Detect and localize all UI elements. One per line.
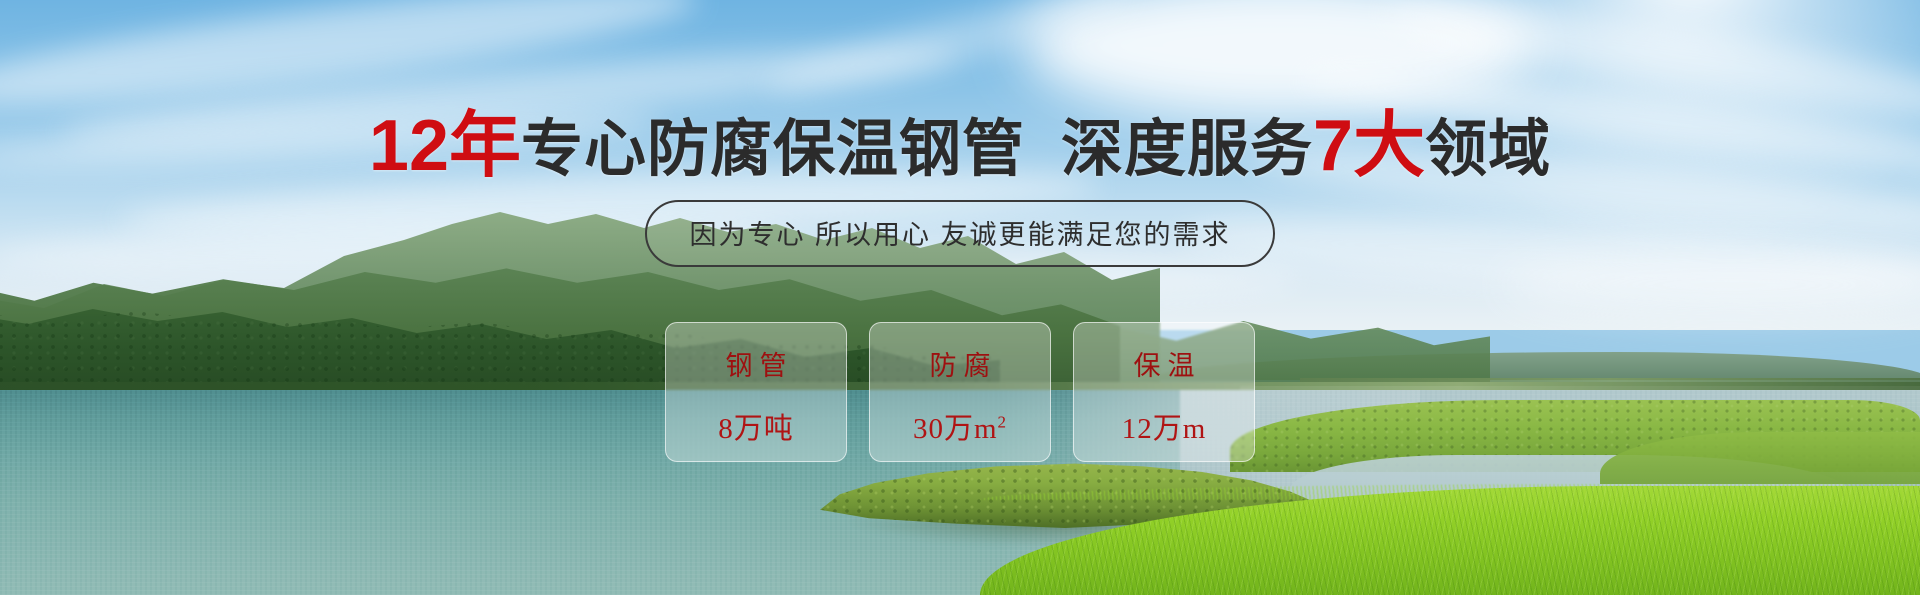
headline-seven: 7大 bbox=[1313, 106, 1425, 186]
stat-card-value-text: 12万m bbox=[1122, 413, 1207, 445]
stat-card-value: 8万吨 bbox=[718, 405, 794, 447]
subtitle-container: 因为专心 所以用心 友诚更能满足您的需求 bbox=[0, 200, 1920, 267]
stat-card-steel-pipe[interactable]: 钢管 8万吨 bbox=[665, 322, 847, 462]
banner-content: 12年专心防腐保温钢管深度服务7大领域 因为专心 所以用心 友诚更能满足您的需求… bbox=[0, 0, 1920, 595]
headline-fields: 领域 bbox=[1425, 115, 1551, 184]
stat-card-value-text: 8万吨 bbox=[718, 413, 794, 445]
stat-card-value: 30万m2 bbox=[913, 405, 1007, 447]
headline: 12年专心防腐保温钢管深度服务7大领域 bbox=[0, 86, 1920, 191]
stat-card-list: 钢管 8万吨 防腐 30万m2 保温 12万m bbox=[0, 322, 1920, 462]
headline-years: 12年 bbox=[369, 106, 521, 186]
headline-service: 深度服务 bbox=[1061, 115, 1313, 184]
stat-card-value: 12万m bbox=[1122, 405, 1207, 447]
stat-card-insulation[interactable]: 保温 12万m bbox=[1073, 322, 1255, 462]
stat-card-value-text: 30万m bbox=[913, 413, 998, 445]
stat-card-title: 防腐 bbox=[923, 344, 998, 383]
stat-card-title: 钢管 bbox=[719, 344, 794, 383]
promo-banner: 12年专心防腐保温钢管深度服务7大领域 因为专心 所以用心 友诚更能满足您的需求… bbox=[0, 0, 1920, 595]
stat-card-value-sup: 2 bbox=[998, 412, 1008, 431]
stat-card-title: 保温 bbox=[1127, 344, 1202, 383]
subtitle-pill: 因为专心 所以用心 友诚更能满足您的需求 bbox=[645, 200, 1274, 267]
headline-main: 专心防腐保温钢管 bbox=[521, 115, 1025, 184]
stat-card-anticorrosion[interactable]: 防腐 30万m2 bbox=[869, 322, 1051, 462]
